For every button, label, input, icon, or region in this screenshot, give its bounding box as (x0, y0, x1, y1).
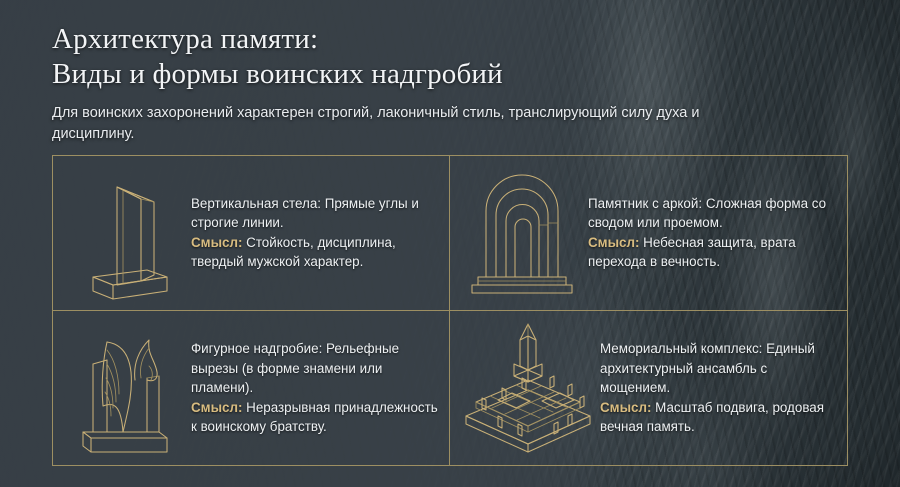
meaning-label: Смысл: (191, 400, 242, 415)
flame-banner-tombstone-icon (61, 318, 189, 458)
cell-text-memorial-complex: Мемориальный комплекс: Единый архитектур… (598, 339, 837, 437)
grid-cell-figured-tombstone[interactable]: Фигурное надгробие: Рельефные вырезы (в … (53, 311, 450, 466)
page-title-line-2: Виды и формы воинских надгробий (52, 57, 822, 92)
cell-text-figured-tombstone: Фигурное надгробие: Рельефные вырезы (в … (189, 339, 439, 437)
slide-root: Архитектура памяти: Виды и формы воински… (0, 0, 900, 487)
monument-name: Мемориальный комплекс: (600, 341, 762, 356)
monument-name: Памятник с аркой: (588, 196, 702, 211)
grid-cell-memorial-complex[interactable]: Мемориальный комплекс: Единый архитектур… (450, 311, 847, 466)
grid-cell-arch-monument[interactable]: Памятник с аркой: Сложная форма со сводо… (450, 156, 847, 311)
monument-name: Вертикальная стела: (191, 196, 321, 211)
vertical-stele-icon (61, 163, 189, 303)
memorial-complex-obelisk-icon (458, 318, 598, 458)
grid-cell-vertical-stele[interactable]: Вертикальная стела: Прямые углы и строги… (53, 156, 450, 311)
page-title-line-1: Архитектура памяти: (52, 22, 822, 57)
meaning-label: Смысл: (191, 235, 242, 250)
monument-types-grid: Вертикальная стела: Прямые углы и строги… (52, 155, 848, 466)
cell-text-arch-monument: Памятник с аркой: Сложная форма со сводо… (586, 194, 837, 272)
arch-monument-icon (458, 163, 586, 303)
monument-name: Фигурное надгробие: (191, 341, 322, 356)
page-subtitle: Для воинских захоронений характерен стро… (52, 103, 772, 145)
meaning-label: Смысл: (600, 400, 651, 415)
cell-text-vertical-stele: Вертикальная стела: Прямые углы и строги… (189, 194, 439, 272)
meaning-label: Смысл: (588, 235, 639, 250)
slide-header: Архитектура памяти: Виды и формы воински… (52, 22, 822, 145)
